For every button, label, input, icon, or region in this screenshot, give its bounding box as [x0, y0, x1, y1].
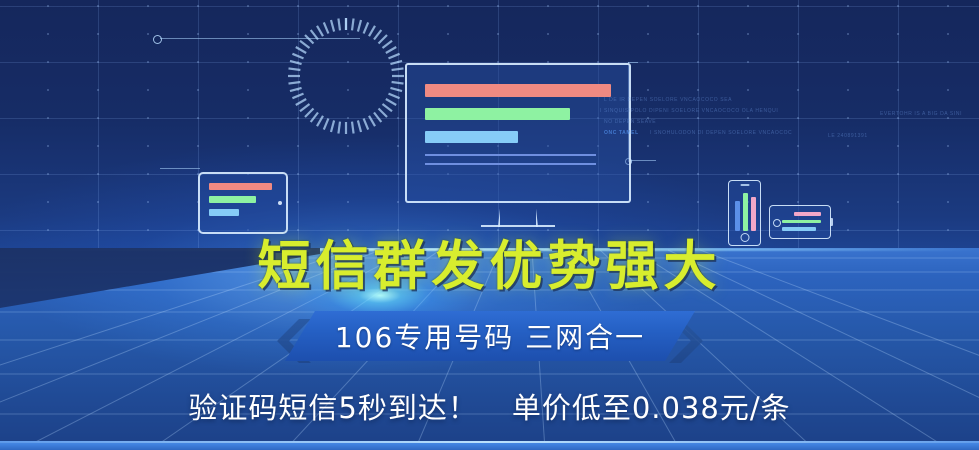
- screen-bar-red: [425, 84, 611, 97]
- tablet-device: [198, 172, 288, 234]
- phone-home-button-icon: [773, 219, 781, 227]
- decor-ghost-text: LE 240891391: [828, 132, 868, 141]
- decor-ghost-text: L DE IR DEPEN SOELORE VNCAOCOCO SEA: [604, 96, 732, 105]
- screen-bar-blue: [425, 131, 518, 143]
- monitor-stand-neck: [498, 205, 538, 227]
- connector-line: [160, 38, 360, 39]
- monitor-stand-base: [481, 225, 555, 227]
- phone-side-button-icon: [830, 218, 833, 226]
- connector-line: [160, 168, 200, 169]
- screen-line-2: [425, 163, 596, 165]
- ribbon-label: 106专用号码 三网合一: [285, 311, 695, 361]
- phone-bar-pink: [751, 197, 756, 231]
- screen-line-1: [425, 154, 596, 156]
- dashed-ring-icon: [284, 14, 408, 138]
- tagline-right: 单价低至0.038元/条: [512, 391, 791, 425]
- tablet-home-dot-icon: [278, 201, 282, 205]
- phone-bar-green: [743, 193, 748, 231]
- phone-bar-pink: [794, 212, 821, 216]
- phone-bar-blue: [782, 227, 816, 231]
- decor-ghost-text: EVERTOHR IS A BIG DA SINI: [880, 110, 962, 119]
- phone-landscape-device: [769, 205, 831, 239]
- phone-portrait-device: [728, 180, 761, 246]
- tablet-bar-green: [209, 196, 256, 203]
- tagline-row: 验证码短信5秒到达！单价低至0.038元/条: [0, 385, 979, 427]
- screen-bar-green: [425, 108, 570, 120]
- tagline-left: 验证码短信5秒到达！: [188, 391, 477, 425]
- phone-chart-bars: [735, 193, 756, 231]
- connector-line: [630, 160, 656, 161]
- decor-ghost-text: I SNOHULODON DI DEPEN SOELORE VNCAOCOC: [650, 129, 792, 138]
- tablet-bar-blue: [209, 209, 239, 216]
- decor-ghost-text: I SINQUISIPOLO DIPENI SOELORE VNCAOCOCO …: [600, 107, 778, 116]
- phone-bar-blue: [735, 201, 740, 231]
- decor-ghost-text: ONC TAMEL: [604, 129, 639, 138]
- decor-ghost-text: NO DEPEN SEAVE: [604, 118, 656, 127]
- phone-speaker-icon: [740, 184, 749, 186]
- phone-bar-green: [782, 220, 821, 224]
- connector-node-icon: [153, 35, 162, 44]
- desktop-monitor: [405, 63, 631, 203]
- tablet-bar-red: [209, 183, 272, 190]
- page-title: 短信群发优势强大: [0, 240, 979, 293]
- monitor-screen: [405, 63, 631, 203]
- bottom-accent-strip: [0, 441, 979, 450]
- promo-banner: L DE IR DEPEN SOELORE VNCAOCOCO SEA I SI…: [0, 0, 979, 450]
